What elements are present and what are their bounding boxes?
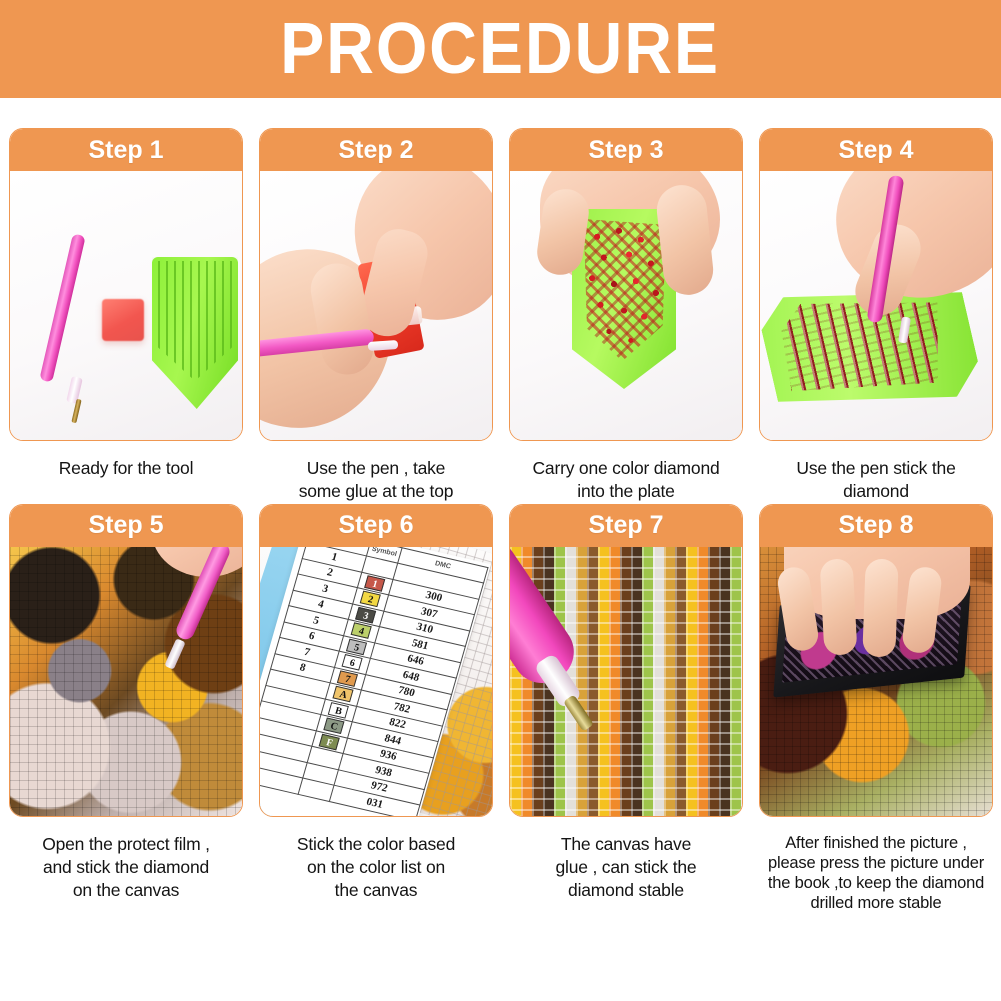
step-3-scene bbox=[510, 171, 742, 440]
step-5-scene bbox=[10, 547, 242, 816]
symbol-swatch: 1 bbox=[365, 575, 386, 592]
step-5-caption: Open the protect film ,and stick the dia… bbox=[8, 833, 244, 903]
symbol-swatch: 7 bbox=[337, 670, 358, 687]
symbol-swatch: 3 bbox=[356, 606, 377, 623]
step-card-5: Step 5 Open the protect film ,and stick … bbox=[1, 504, 251, 914]
step-5-badge: Step 5 bbox=[88, 511, 163, 540]
step-2-caption: Use the pen , takesome glue at the top bbox=[258, 457, 494, 504]
step-card-8: Step 8 After finished bbox=[751, 504, 1001, 914]
step-card-1: Step 1 Ready for the tool bbox=[1, 128, 251, 504]
steps-grid: Step 1 Ready for the tool bbox=[0, 128, 1001, 913]
step-5-card: Step 5 bbox=[9, 504, 243, 817]
step-4-caption: Use the pen stick thediamond bbox=[758, 457, 994, 504]
finger-icon bbox=[820, 558, 858, 656]
step-5-image bbox=[10, 547, 242, 816]
step-4-badge: Step 4 bbox=[838, 136, 913, 165]
step-8-image bbox=[760, 547, 992, 816]
step-8-card: Step 8 bbox=[759, 504, 993, 817]
step-6-header: Step 6 bbox=[260, 505, 492, 547]
red-glue-square-icon bbox=[102, 299, 144, 341]
step-8-caption: After finished the picture ,please press… bbox=[754, 833, 998, 914]
step-2-card: Step 2 bbox=[259, 128, 493, 441]
step-card-3: Step 3 Carry one color diamondinto the p… bbox=[501, 128, 751, 504]
step-6-card: Step 6 No. Symbol bbox=[259, 504, 493, 817]
step-4-header: Step 4 bbox=[760, 129, 992, 171]
step-8-scene bbox=[760, 547, 992, 816]
step-7-card: Step 7 bbox=[509, 504, 743, 817]
step-1-scene bbox=[10, 171, 242, 440]
step-5-header: Step 5 bbox=[10, 505, 242, 547]
step-card-7: Step 7 The canvas haveglue , can stick t… bbox=[501, 504, 751, 914]
step-1-badge: Step 1 bbox=[88, 136, 163, 165]
page-title: PROCEDURE bbox=[281, 13, 721, 85]
step-6-caption: Stick the color basedon the color list o… bbox=[258, 833, 494, 903]
step-1-card: Step 1 bbox=[9, 128, 243, 441]
symbol-swatch: C bbox=[324, 717, 345, 734]
symbol-swatch: A bbox=[333, 686, 354, 703]
symbol-swatch: F bbox=[319, 733, 340, 750]
step-7-scene bbox=[510, 547, 742, 816]
step-2-scene bbox=[260, 171, 492, 440]
step-4-card: Step 4 bbox=[759, 128, 993, 441]
step-card-2: Step 2 Use the pen , takesome glue bbox=[251, 128, 501, 504]
page-header-banner: PROCEDURE bbox=[0, 0, 1001, 98]
step-7-caption: The canvas haveglue , can stick thediamo… bbox=[508, 833, 744, 903]
step-3-caption: Carry one color diamondinto the plate bbox=[508, 457, 744, 504]
symbol-swatch: 6 bbox=[342, 654, 363, 671]
step-3-image bbox=[510, 171, 742, 440]
step-6-scene: No. Symbol DMC 1 21300 32307 43310 bbox=[260, 547, 492, 816]
step-7-header: Step 7 bbox=[510, 505, 742, 547]
step-4-image bbox=[760, 171, 992, 440]
step-7-image bbox=[510, 547, 742, 816]
pink-pen-icon bbox=[39, 233, 85, 382]
symbol-swatch: 5 bbox=[346, 638, 367, 655]
step-6-image: No. Symbol DMC 1 21300 32307 43310 bbox=[260, 547, 492, 816]
finger-icon bbox=[862, 558, 898, 657]
step-8-badge: Step 8 bbox=[838, 511, 913, 540]
step-7-badge: Step 7 bbox=[588, 511, 663, 540]
step-1-header: Step 1 bbox=[10, 129, 242, 171]
step-6-badge: Step 6 bbox=[338, 511, 413, 540]
step-1-image bbox=[10, 171, 242, 440]
step-2-badge: Step 2 bbox=[338, 136, 413, 165]
step-card-6: Step 6 No. Symbol bbox=[251, 504, 501, 914]
step-4-scene bbox=[760, 171, 992, 440]
step-3-badge: Step 3 bbox=[588, 136, 663, 165]
step-1-caption: Ready for the tool bbox=[8, 457, 244, 480]
symbol-swatch: B bbox=[328, 701, 349, 718]
step-8-header: Step 8 bbox=[760, 505, 992, 547]
symbol-swatch: 4 bbox=[351, 622, 372, 639]
step-3-card: Step 3 bbox=[509, 128, 743, 441]
step-card-4: Step 4 Use the pen stick thediamond bbox=[751, 128, 1001, 504]
procedure-infographic: PROCEDURE Step 1 bbox=[0, 0, 1001, 1001]
step-2-header: Step 2 bbox=[260, 129, 492, 171]
step-2-image bbox=[260, 171, 492, 440]
step-3-header: Step 3 bbox=[510, 129, 742, 171]
symbol-swatch: 2 bbox=[360, 590, 381, 607]
